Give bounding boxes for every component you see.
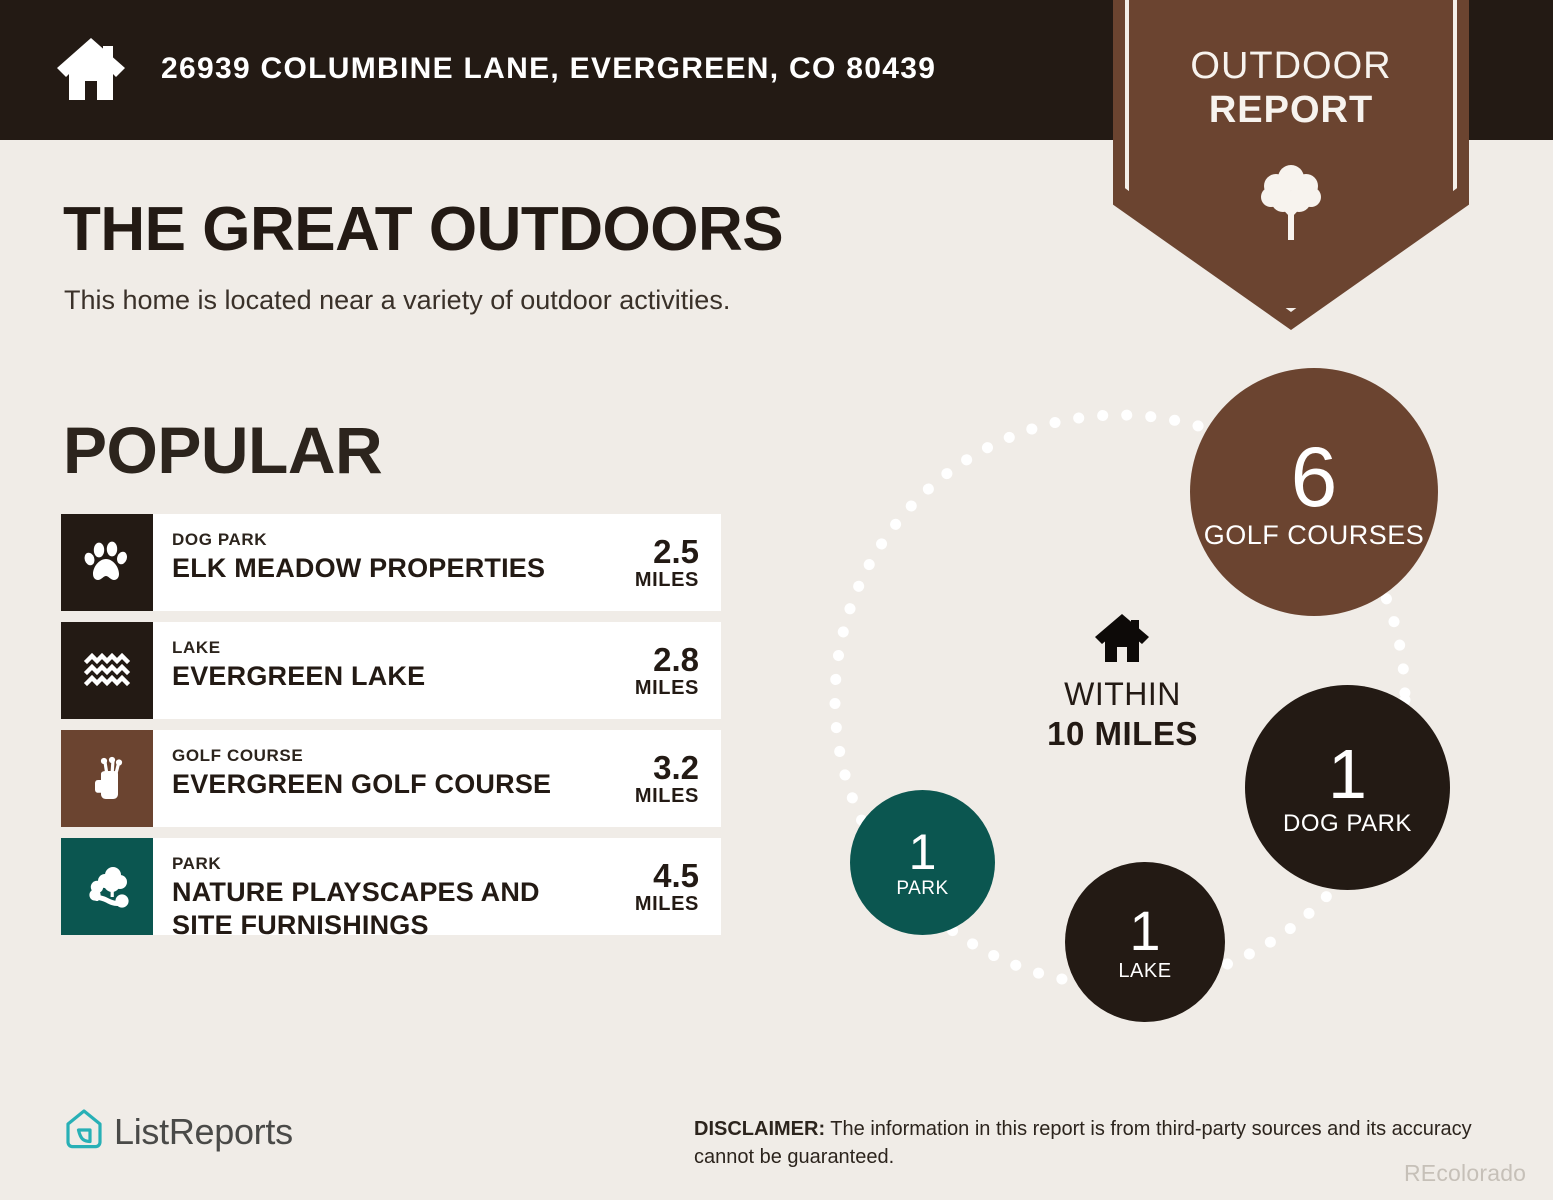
- property-address: 26939 COLUMBINE LANE, EVERGREEN, CO 8043…: [161, 52, 936, 86]
- distance-unit: MILES: [635, 785, 699, 808]
- page-title: THE GREAT OUTDOORS: [63, 194, 783, 265]
- node-label: LAKE: [1118, 961, 1171, 982]
- paw-icon: [61, 514, 153, 611]
- distance-value: 3.2: [653, 750, 699, 785]
- node-count: 1: [909, 827, 937, 877]
- distance-value: 2.8: [653, 642, 699, 677]
- list-item[interactable]: GOLF COURSE EVERGREEN GOLF COURSE 3.2 MI…: [61, 730, 721, 827]
- recolorado-watermark: REcolorado: [1404, 1160, 1526, 1187]
- badge-line-1: OUTDOOR: [1113, 44, 1469, 88]
- popular-poi-list: DOG PARK ELK MEADOW PROPERTIES 2.5 MILES…: [61, 514, 721, 946]
- list-item-distance: 3.2 MILES: [571, 730, 721, 827]
- outdoor-report-badge: OUTDOOR REPORT: [1113, 0, 1469, 330]
- section-title-popular: POPULAR: [63, 412, 382, 488]
- list-item-text: PARK NATURE PLAYSCAPES AND SITE FURNISHI…: [153, 838, 571, 935]
- list-item-distance: 2.8 MILES: [571, 622, 721, 719]
- within-10-miles-diagram: 6 GOLF COURSES 1 DOG PARK 1 LAKE 1 PARK …: [800, 350, 1500, 1030]
- within-line-1: WITHIN: [980, 675, 1265, 714]
- node-count: 1: [1129, 903, 1160, 959]
- distance-unit: MILES: [635, 569, 699, 592]
- page-subtitle: This home is located near a variety of o…: [64, 285, 730, 316]
- node-label: DOG PARK: [1283, 811, 1412, 836]
- list-item[interactable]: LAKE EVERGREEN LAKE 2.8 MILES: [61, 622, 721, 719]
- node-lake[interactable]: 1 LAKE: [1065, 862, 1225, 1022]
- list-item-category: DOG PARK: [172, 530, 571, 550]
- node-count: 6: [1291, 435, 1338, 519]
- node-dog-park[interactable]: 1 DOG PARK: [1245, 685, 1450, 890]
- distance-value: 2.5: [653, 534, 699, 569]
- list-item-name: EVERGREEN LAKE: [172, 660, 571, 693]
- node-count: 1: [1328, 739, 1367, 809]
- list-item-text: GOLF COURSE EVERGREEN GOLF COURSE: [153, 730, 571, 827]
- node-park[interactable]: 1 PARK: [850, 790, 995, 935]
- list-item-name: ELK MEADOW PROPERTIES: [172, 552, 571, 585]
- list-item-text: DOG PARK ELK MEADOW PROPERTIES: [153, 514, 571, 611]
- tree-icon: [1255, 160, 1327, 242]
- badge-line-2: REPORT: [1113, 88, 1469, 132]
- badge-title: OUTDOOR REPORT: [1113, 44, 1469, 132]
- disclaimer: DISCLAIMER: The information in this repo…: [694, 1115, 1494, 1171]
- list-item-distance: 2.5 MILES: [571, 514, 721, 611]
- list-item-distance: 4.5 MILES: [571, 838, 721, 935]
- list-item-name: NATURE PLAYSCAPES AND SITE FURNISHINGS: [172, 876, 571, 935]
- list-item[interactable]: PARK NATURE PLAYSCAPES AND SITE FURNISHI…: [61, 838, 721, 935]
- home-icon: [55, 36, 127, 102]
- disclaimer-label: DISCLAIMER:: [694, 1118, 825, 1140]
- list-item-name: EVERGREEN GOLF COURSE: [172, 768, 571, 801]
- list-item[interactable]: DOG PARK ELK MEADOW PROPERTIES 2.5 MILES: [61, 514, 721, 611]
- distance-value: 4.5: [653, 858, 699, 893]
- listreports-house-icon: [64, 1108, 104, 1155]
- waves-icon: [61, 622, 153, 719]
- node-label: GOLF COURSES: [1204, 521, 1425, 549]
- distance-unit: MILES: [635, 677, 699, 700]
- within-line-2: 10 MILES: [980, 714, 1265, 753]
- list-item-category: GOLF COURSE: [172, 746, 571, 766]
- list-item-category: PARK: [172, 854, 571, 874]
- listreports-logo[interactable]: ListReports: [64, 1108, 293, 1155]
- home-icon: [1093, 612, 1151, 664]
- golf-bag-icon: [61, 730, 153, 827]
- within-distance-label: WITHIN 10 MILES: [980, 675, 1265, 753]
- distance-unit: MILES: [635, 893, 699, 916]
- node-golf-courses[interactable]: 6 GOLF COURSES: [1190, 368, 1438, 616]
- node-label: PARK: [896, 879, 948, 899]
- list-item-category: LAKE: [172, 638, 571, 658]
- listreports-wordmark: ListReports: [114, 1111, 293, 1153]
- trees-icon: [61, 838, 153, 935]
- list-item-text: LAKE EVERGREEN LAKE: [153, 622, 571, 719]
